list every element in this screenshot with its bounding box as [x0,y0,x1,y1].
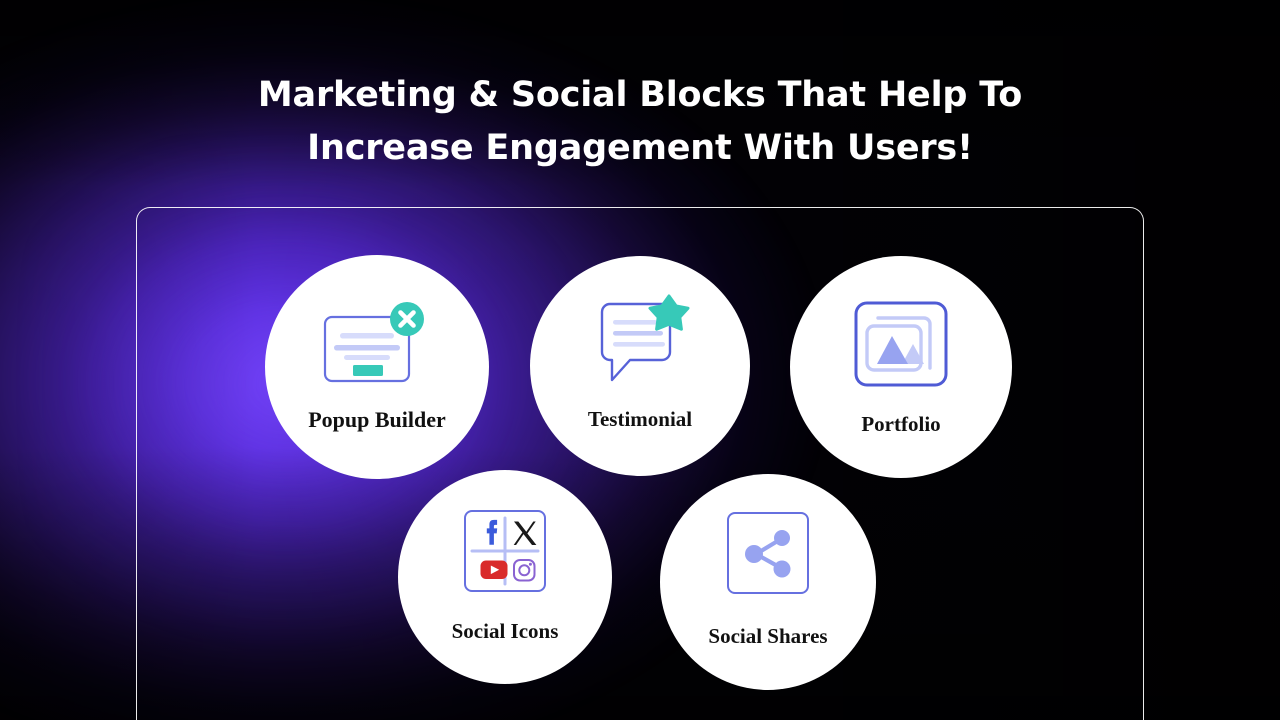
block-card-popup-builder[interactable]: Popup Builder [265,255,489,479]
block-card-social-icons[interactable]: Social Icons [398,470,612,684]
page-title-line-2: Increase Engagement With Users! [0,122,1280,175]
popup-window-icon [322,305,432,387]
block-card-social-shares[interactable]: Social Shares [660,474,876,690]
social-grid-icon [462,508,548,594]
promo-banner: Marketing & Social Blocks That Help To I… [0,0,1280,720]
page-title: Marketing & Social Blocks That Help To I… [0,69,1280,175]
block-label-social-shares: Social Shares [708,624,827,649]
block-card-portfolio[interactable]: Portfolio [790,256,1012,478]
block-label-popup-builder: Popup Builder [308,407,446,433]
block-label-testimonial: Testimonial [588,407,692,432]
instagram-icon [514,560,535,581]
block-label-social-icons: Social Icons [452,619,559,644]
speech-bubble-icon [590,296,690,388]
block-label-portfolio: Portfolio [861,412,940,437]
page-title-line-1: Marketing & Social Blocks That Help To [0,69,1280,122]
block-card-testimonial[interactable]: Testimonial [530,256,750,476]
image-stack-icon [850,298,952,390]
share-nodes-icon [725,510,811,596]
close-circle-badge-icon [390,302,424,336]
youtube-icon [481,561,508,580]
